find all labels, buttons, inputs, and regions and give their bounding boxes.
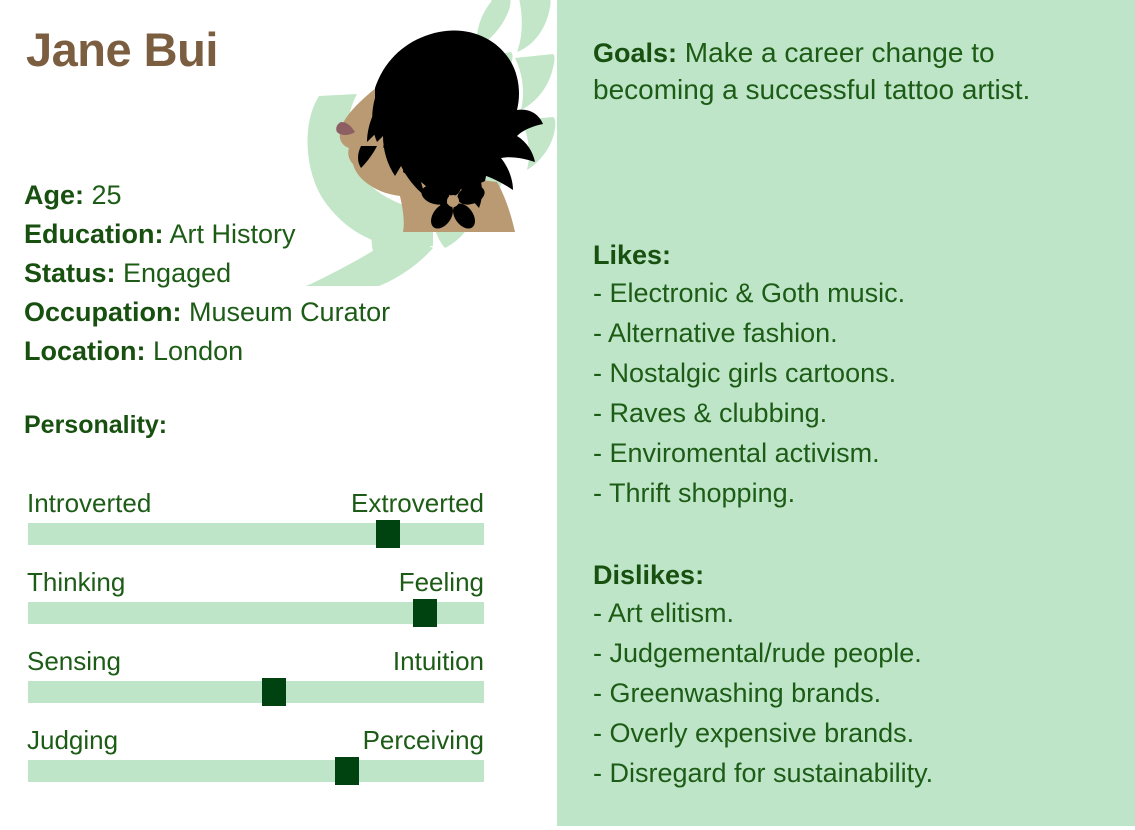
- likes-block: Likes: - Electronic & Goth music. - Alte…: [593, 237, 1120, 513]
- fact-row-age: Age: 25: [24, 176, 390, 215]
- facts-list: Age: 25 Education: Art History Status: E…: [24, 176, 390, 371]
- fact-row-status: Status: Engaged: [24, 254, 390, 293]
- list-item: - Raves & clubbing.: [593, 393, 1120, 433]
- list-item: - Nostalgic girls cartoons.: [593, 353, 1120, 393]
- list-item: - Alternative fashion.: [593, 313, 1120, 353]
- fact-label: Age:: [24, 180, 84, 210]
- slider-label-right: Intuition: [393, 646, 484, 676]
- slider-label-right: Perceiving: [363, 725, 484, 755]
- fact-value: 25: [92, 180, 122, 210]
- fact-label: Occupation:: [24, 297, 182, 327]
- list-item: - Art elitism.: [593, 593, 1120, 633]
- dislikes-heading: Dislikes:: [593, 557, 1120, 593]
- slider-thumb[interactable]: [262, 678, 286, 706]
- list-item: - Greenwashing brands.: [593, 673, 1120, 713]
- slider-label-left: Introverted: [27, 488, 151, 518]
- goals-label: Goals:: [593, 38, 677, 68]
- goals-text: Goals: Make a career change to becoming …: [593, 34, 1120, 108]
- slider-thumb[interactable]: [413, 599, 437, 627]
- slider-track[interactable]: [28, 602, 484, 624]
- fact-label: Status:: [24, 258, 116, 288]
- fact-label: Education:: [24, 219, 164, 249]
- persona-card: Jane Bui: [0, 0, 1135, 830]
- fact-value: London: [153, 336, 243, 366]
- slider-track[interactable]: [28, 523, 484, 545]
- slider-label-right: Feeling: [399, 567, 484, 597]
- slider-labels: Thinking Feeling: [27, 567, 484, 597]
- list-item: - Enviromental activism.: [593, 433, 1120, 473]
- fact-value: Art History: [170, 219, 296, 249]
- list-item: - Thrift shopping.: [593, 473, 1120, 513]
- slider-thumb[interactable]: [376, 520, 400, 548]
- fact-row-education: Education: Art History: [24, 215, 390, 254]
- slider-label-left: Thinking: [27, 567, 125, 597]
- dislikes-block: Dislikes: - Art elitism. - Judgemental/r…: [593, 557, 1120, 793]
- left-panel: Jane Bui: [0, 0, 557, 830]
- slider-labels: Introverted Extroverted: [27, 488, 484, 518]
- avatar-ear-stud: [425, 111, 437, 127]
- slider-labels: Judging Perceiving: [27, 725, 484, 755]
- likes-heading: Likes:: [593, 237, 1120, 273]
- slider-judging-perceiving[interactable]: Judging Perceiving: [28, 725, 484, 778]
- slider-introverted-extroverted[interactable]: Introverted Extroverted: [28, 488, 484, 541]
- page-title: Jane Bui: [26, 22, 218, 77]
- slider-track[interactable]: [28, 760, 484, 782]
- fact-row-location: Location: London: [24, 332, 390, 371]
- slider-label-right: Extroverted: [351, 488, 484, 518]
- slider-thumb[interactable]: [335, 757, 359, 785]
- list-item: - Judgemental/rude people.: [593, 633, 1120, 673]
- right-panel: Goals: Make a career change to becoming …: [557, 0, 1135, 826]
- slider-sensing-intuition[interactable]: Sensing Intuition: [28, 646, 484, 699]
- fact-value: Engaged: [123, 258, 231, 288]
- list-item: - Overly expensive brands.: [593, 713, 1120, 753]
- fact-value: Museum Curator: [189, 297, 390, 327]
- slider-labels: Sensing Intuition: [27, 646, 484, 676]
- personality-sliders: Introverted Extroverted Thinking Feeling: [28, 488, 484, 804]
- fact-row-occupation: Occupation: Museum Curator: [24, 293, 390, 332]
- personality-heading: Personality:: [24, 411, 167, 440]
- slider-label-left: Sensing: [27, 646, 121, 676]
- slider-track[interactable]: [28, 681, 484, 703]
- slider-label-left: Judging: [27, 725, 118, 755]
- fact-label: Location:: [24, 336, 146, 366]
- list-item: - Disregard for sustainability.: [593, 753, 1120, 793]
- goals-block: Goals: Make a career change to becoming …: [593, 34, 1120, 108]
- list-item: - Electronic & Goth music.: [593, 273, 1120, 313]
- slider-thinking-feeling[interactable]: Thinking Feeling: [28, 567, 484, 620]
